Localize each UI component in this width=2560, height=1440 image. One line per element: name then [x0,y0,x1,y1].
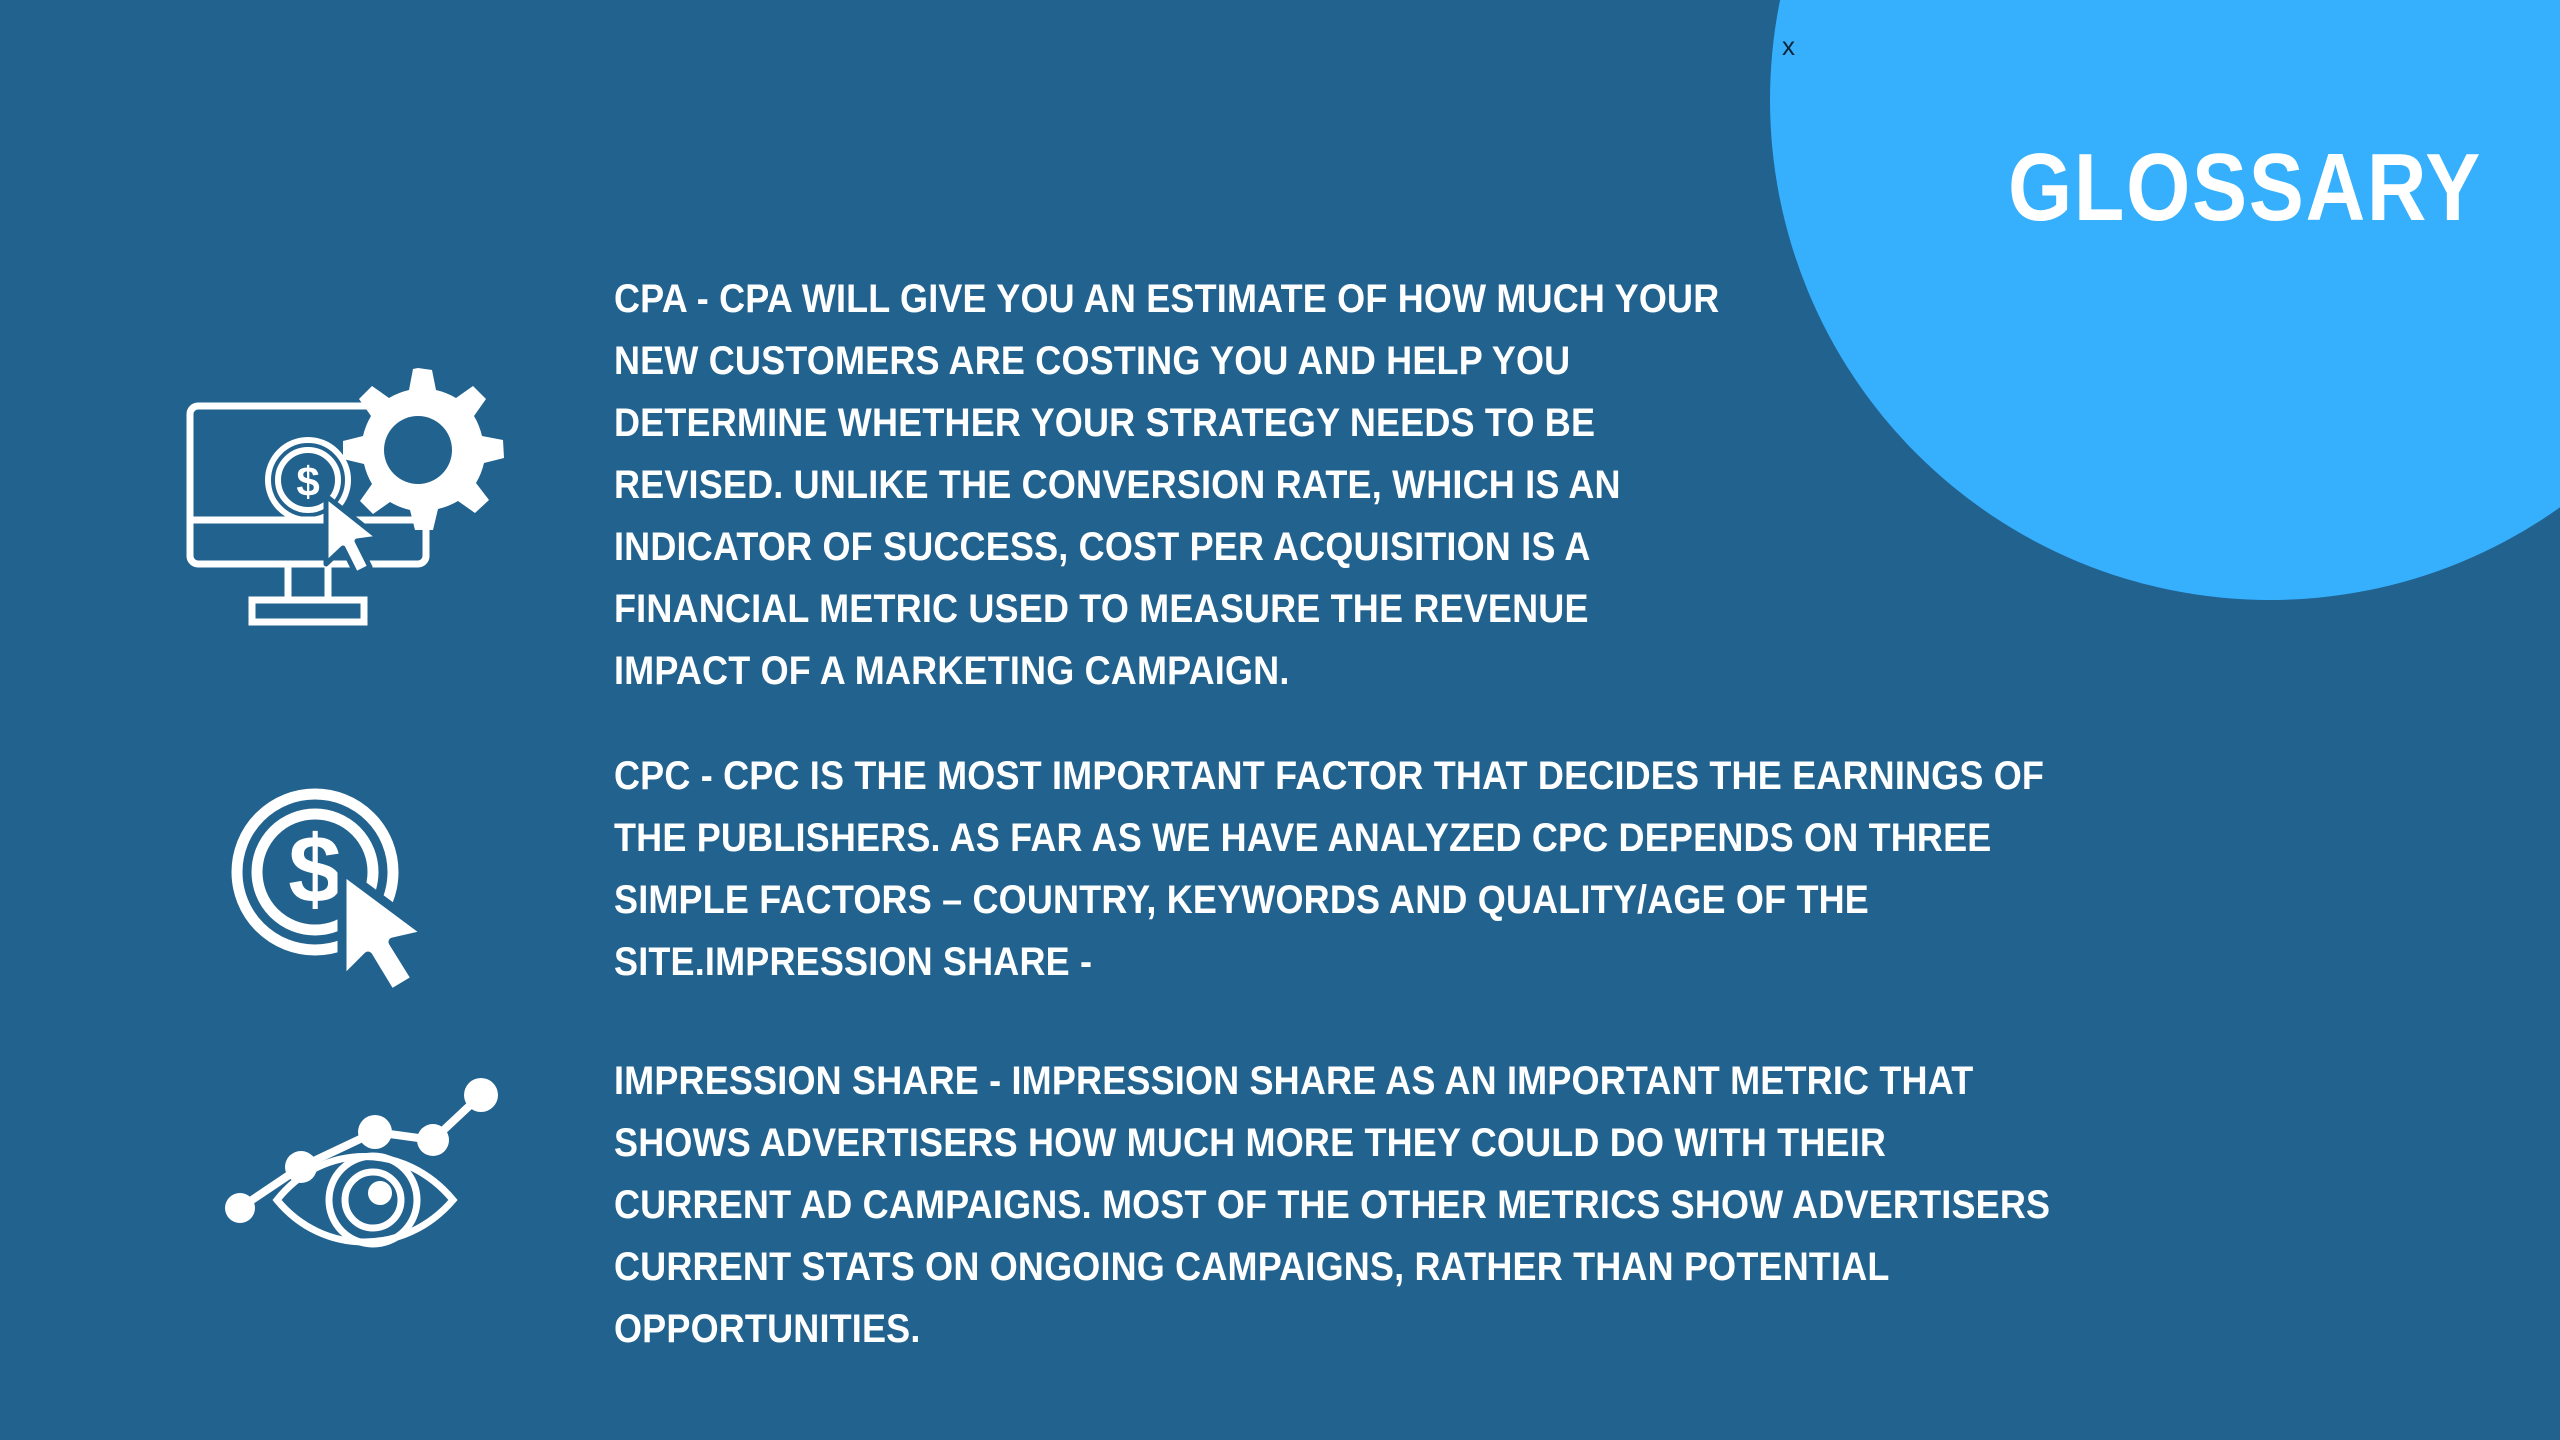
glossary-slide: GLOSSARY x $ [0,0,2560,1440]
glossary-entry-text: Impression share - Impression share as a… [614,1050,2054,1360]
dollar-coin-cursor-icon: $ [205,770,475,1010]
svg-text:$: $ [296,458,319,505]
svg-text:$: $ [288,816,341,923]
glossary-entry-list: $ CPA - CPA will give you an estimate of… [0,0,2560,1440]
glossary-entry-text: CPC - CPC is the most important factor t… [614,745,2054,993]
eye-trend-chart-icon [205,1060,505,1290]
glossary-entry-text: CPA - CPA will give you an estimate of h… [614,268,1721,702]
monitor-gear-dollar-icon: $ [180,368,540,668]
